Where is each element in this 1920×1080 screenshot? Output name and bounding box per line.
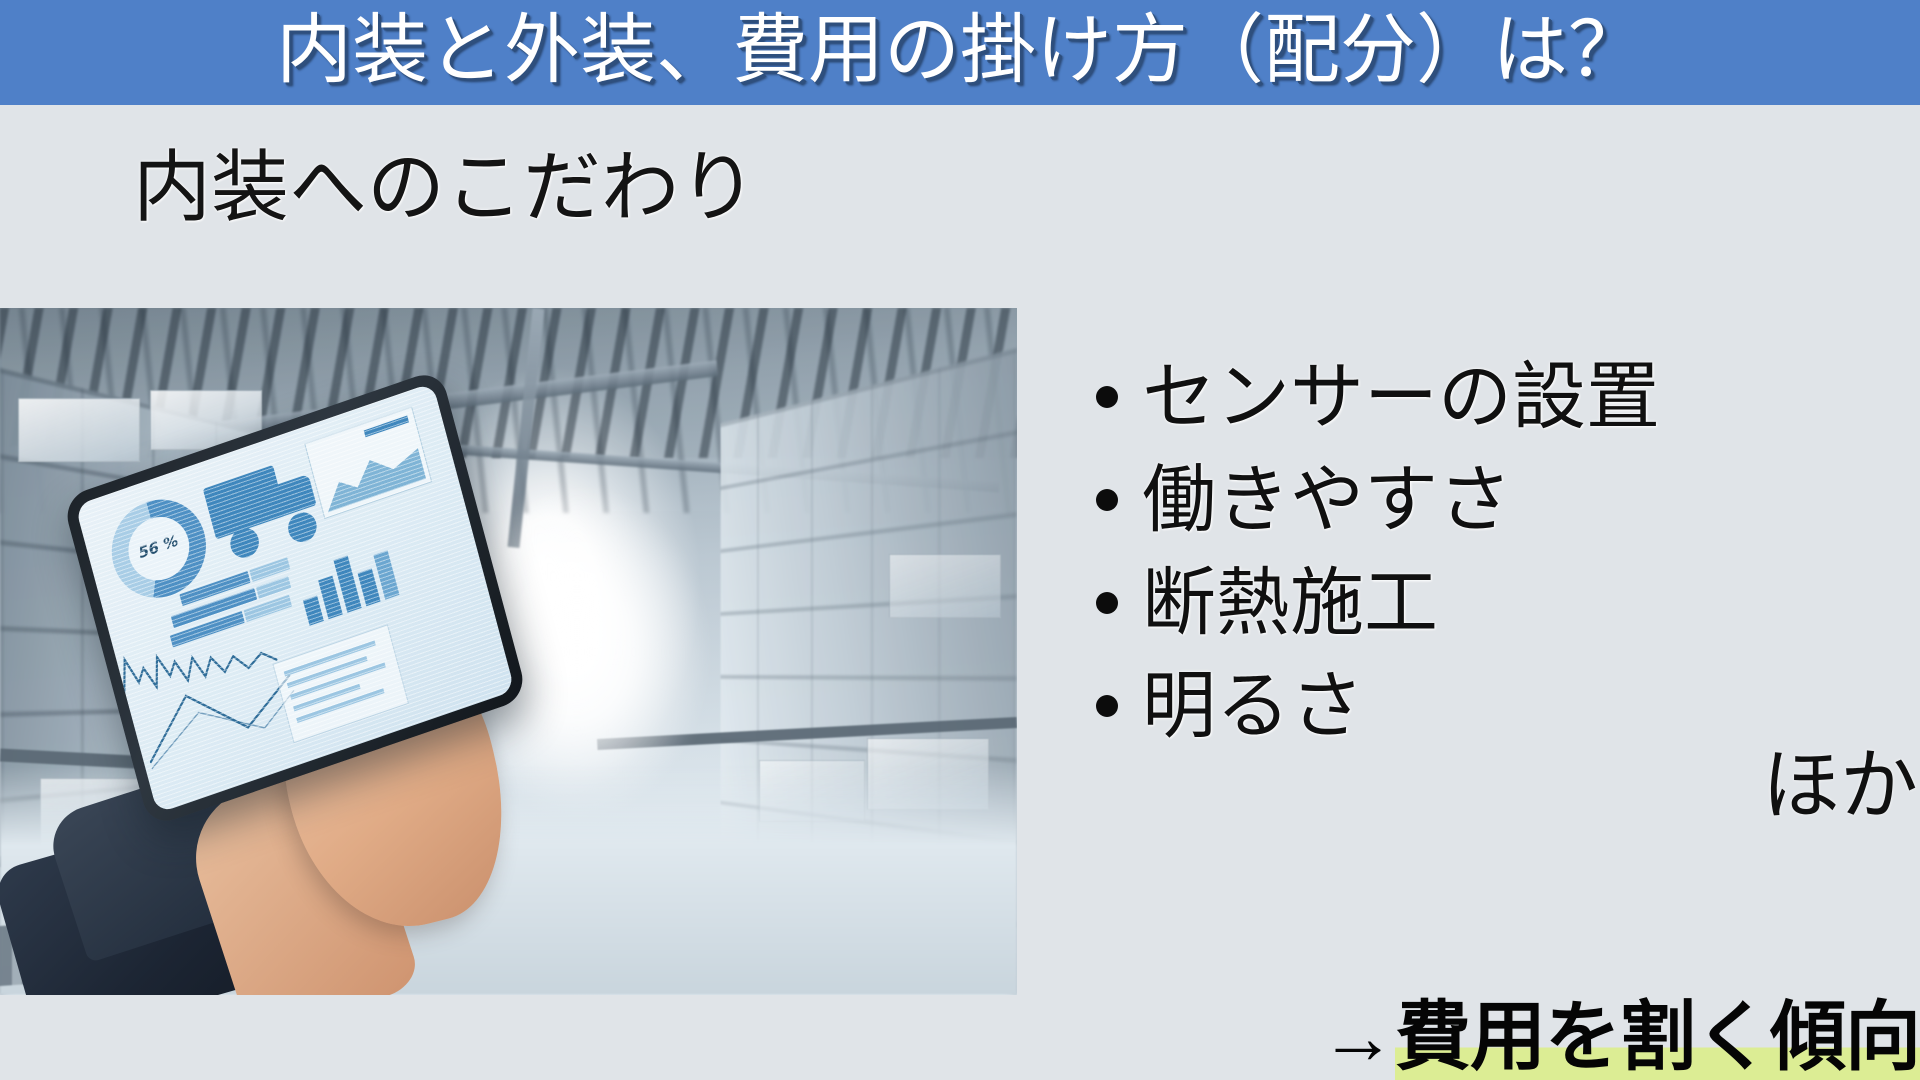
bullet-dot-icon — [1096, 489, 1118, 511]
warehouse-tablet-photo: 56 % — [0, 308, 1017, 995]
slide-title: 内装と外装、費用の掛け方（配分）は？ — [276, 13, 1644, 89]
bullet-list: センサーの設置 働きやすさ 断熱施工 明るさ — [1096, 345, 1916, 757]
bullet-label: センサーの設置 — [1142, 360, 1660, 434]
bullet-label: 明るさ — [1142, 669, 1364, 743]
bullet-dot-icon — [1096, 695, 1118, 717]
conclusion-highlighted-text: 費用を割く傾向 — [1395, 995, 1920, 1080]
bullet-label: 断熱施工 — [1142, 566, 1438, 640]
column-bar — [303, 596, 324, 626]
list-item: 働きやすさ — [1096, 448, 1916, 551]
aside-note: ほか — [1762, 745, 1918, 827]
bullet-dot-icon — [1096, 386, 1118, 408]
area-chart-card — [304, 406, 432, 519]
list-item: 断熱施工 — [1096, 551, 1916, 654]
bullet-label: 働きやすさ — [1142, 463, 1512, 537]
truck-cab-icon — [274, 474, 316, 517]
area-chart-series — [316, 436, 426, 512]
truck-wheel-icon — [285, 508, 320, 546]
list-item: センサーの設置 — [1096, 345, 1916, 448]
conclusion-line: →費用を割く傾向 — [1320, 998, 1920, 1078]
bullet-dot-icon — [1096, 592, 1118, 614]
column-chart — [294, 530, 414, 626]
slide-canvas: 内装と外装、費用の掛け方（配分）は？ 内装へのこだわり — [0, 0, 1920, 1080]
document-block — [272, 624, 409, 743]
slide-subtitle: 内装へのこだわり — [133, 145, 757, 229]
pallet-box — [889, 554, 1001, 618]
area-chart-legend — [364, 416, 409, 438]
arrow-glyph: → — [1320, 995, 1395, 1080]
slide-title-bar: 内装と外装、費用の掛け方（配分）は？ — [0, 0, 1920, 105]
pallet-box — [18, 398, 140, 462]
column-bar — [358, 568, 381, 606]
